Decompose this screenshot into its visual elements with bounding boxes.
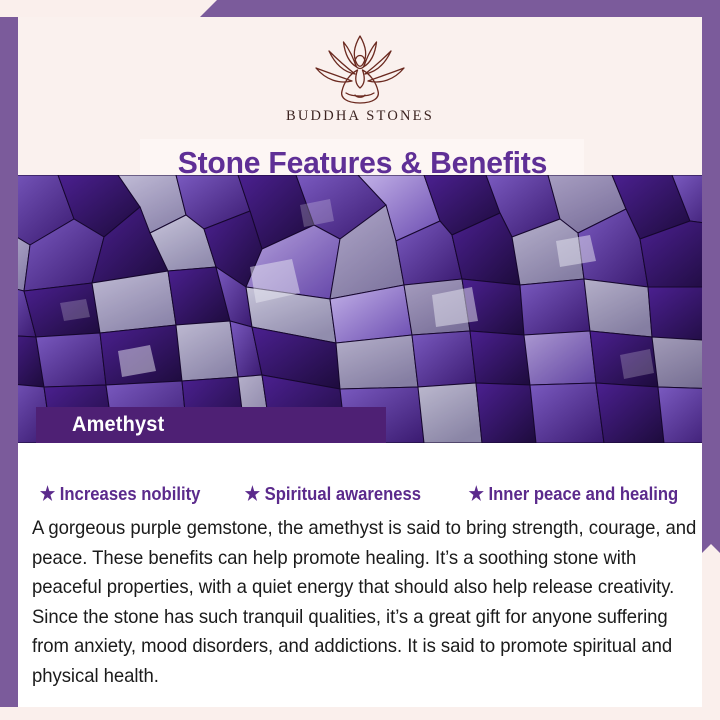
benefit-item: ★ Inner peace and healing (468, 483, 678, 505)
stone-description: A gorgeous purple gemstone, the amethyst… (32, 514, 701, 691)
lotus-meditation-icon (307, 31, 413, 107)
frame-left-bar (0, 17, 18, 707)
stone-name: Amethyst (72, 413, 164, 437)
benefit-label: Spiritual awareness (264, 483, 420, 505)
stone-label-band: Amethyst (36, 407, 386, 443)
brand-name: BUDDHA STONES (286, 108, 434, 125)
brand-logo: BUDDHA STONES (18, 17, 702, 125)
benefit-label: Inner peace and healing (488, 483, 678, 505)
star-icon: ★ (39, 485, 54, 504)
frame-right-bar (702, 0, 720, 553)
star-icon: ★ (245, 485, 260, 504)
benefit-item: ★ Increases nobility (39, 483, 200, 505)
amethyst-photo (18, 175, 702, 443)
benefits-row: ★ Increases nobility ★ Spiritual awarene… (18, 443, 702, 505)
card-header: BUDDHA STONES Stone Features & Benefits (18, 17, 702, 175)
benefit-item: ★ Spiritual awareness (245, 483, 421, 505)
info-card: BUDDHA STONES Stone Features & Benefits (18, 17, 702, 707)
star-icon: ★ (468, 485, 483, 504)
benefit-label: Increases nobility (59, 483, 200, 505)
frame-top-bar (200, 0, 720, 17)
stone-details-panel: ★ Increases nobility ★ Spiritual awarene… (18, 443, 702, 707)
